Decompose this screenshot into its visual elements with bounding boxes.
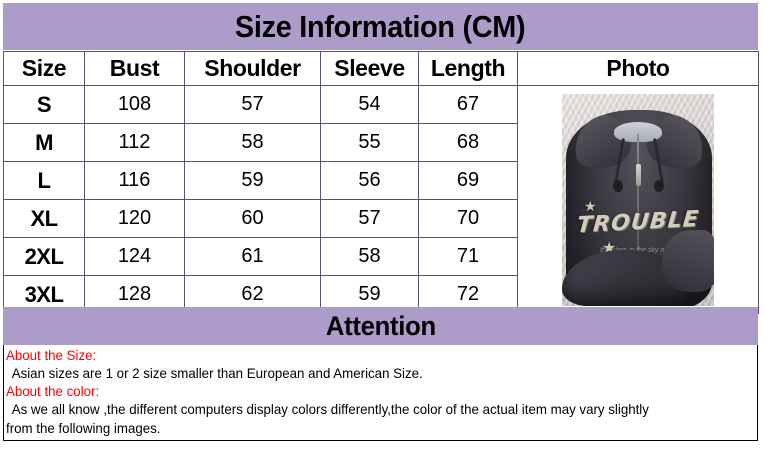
attention-heading: Attention bbox=[326, 313, 436, 340]
hoodie-star-icon: ★ bbox=[584, 198, 597, 215]
about-size-body: Asian sizes are 1 or 2 size smaller than… bbox=[6, 364, 718, 383]
cell-size: 2XL bbox=[4, 238, 85, 276]
cell-sleeve: 56 bbox=[321, 162, 419, 200]
cell-shoulder: 59 bbox=[185, 162, 321, 200]
cell-bust: 120 bbox=[85, 200, 185, 238]
cell-length: 71 bbox=[419, 238, 518, 276]
product-photo-cell: TROUBLE ★ ★ ★ the stars in the sky never… bbox=[518, 86, 759, 314]
cell-length: 69 bbox=[419, 162, 518, 200]
cell-sleeve: 55 bbox=[321, 124, 419, 162]
product-photo: TROUBLE ★ ★ ★ the stars in the sky never… bbox=[562, 94, 714, 306]
cell-length: 67 bbox=[419, 86, 518, 124]
cell-size: M bbox=[4, 124, 85, 162]
hoodie-drawstring-knot-left bbox=[613, 180, 623, 192]
about-color-body-line1: As we all know ,the different computers … bbox=[6, 400, 718, 419]
table-row: S 108 57 54 67 bbox=[4, 86, 759, 124]
about-color-body-line2: from the following images. bbox=[6, 419, 718, 438]
column-header-bust: Bust bbox=[85, 52, 185, 86]
cell-shoulder: 57 bbox=[185, 86, 321, 124]
column-header-photo: Photo bbox=[518, 52, 759, 86]
about-color-title: About the color: bbox=[6, 383, 718, 400]
cell-bust: 112 bbox=[85, 124, 185, 162]
attention-notes: About the Size: Asian sizes are 1 or 2 s… bbox=[3, 345, 758, 441]
cell-sleeve: 58 bbox=[321, 238, 419, 276]
cell-length: 70 bbox=[419, 200, 518, 238]
cell-shoulder: 61 bbox=[185, 238, 321, 276]
hoodie-drawstring-knot-right bbox=[654, 180, 664, 192]
cell-bust: 124 bbox=[85, 238, 185, 276]
cell-length: 68 bbox=[419, 124, 518, 162]
column-header-size: Size bbox=[4, 52, 85, 86]
cell-sleeve: 54 bbox=[321, 86, 419, 124]
cell-shoulder: 58 bbox=[185, 124, 321, 162]
cell-size: XL bbox=[4, 200, 85, 238]
column-header-length: Length bbox=[419, 52, 518, 86]
cell-size: L bbox=[4, 162, 85, 200]
size-information-table: Size Bust Shoulder Sleeve Length Photo S… bbox=[3, 51, 759, 314]
cell-size: S bbox=[4, 86, 85, 124]
cell-bust: 116 bbox=[85, 162, 185, 200]
cell-shoulder: 60 bbox=[185, 200, 321, 238]
page-title: Size Information (CM) bbox=[235, 11, 525, 42]
about-size-title: About the Size: bbox=[6, 347, 718, 364]
column-header-shoulder: Shoulder bbox=[185, 52, 321, 86]
hoodie-zipper-pull bbox=[636, 164, 641, 186]
size-chart-page: Size Information (CM) Size Bust Shoulder… bbox=[0, 0, 766, 450]
size-information-banner: Size Information (CM) bbox=[3, 3, 758, 50]
table-header-row: Size Bust Shoulder Sleeve Length Photo bbox=[4, 52, 759, 86]
cell-bust: 108 bbox=[85, 86, 185, 124]
hoodie-sleeve-side bbox=[662, 230, 714, 292]
column-header-sleeve: Sleeve bbox=[321, 52, 419, 86]
cell-sleeve: 57 bbox=[321, 200, 419, 238]
attention-banner: Attention bbox=[3, 307, 758, 345]
